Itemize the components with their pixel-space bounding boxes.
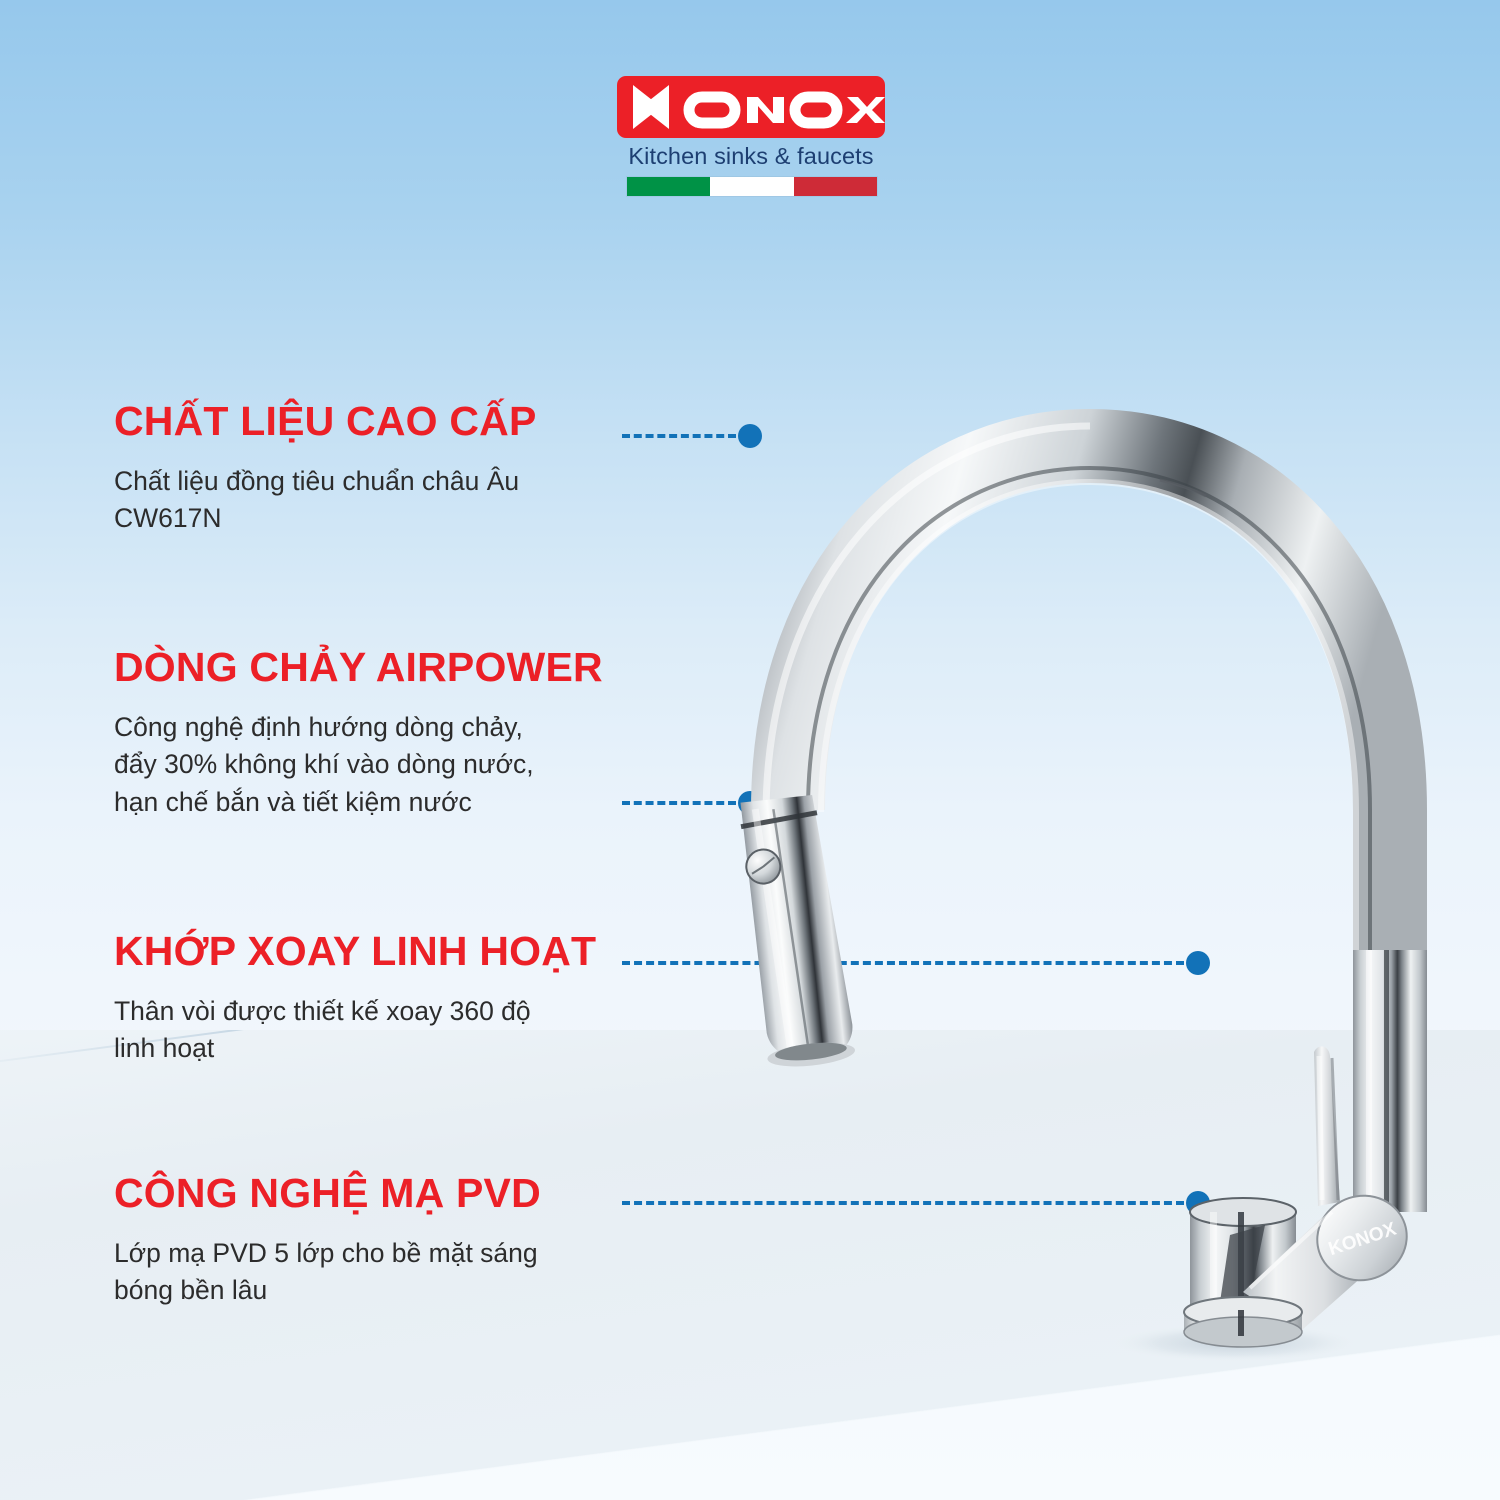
feature-line: linh hoạt (114, 1030, 644, 1068)
feature-line: bóng bền lâu (114, 1272, 644, 1310)
feature-line: Lớp mạ PVD 5 lớp cho bề mặt sáng (114, 1235, 644, 1273)
logo-badge (617, 76, 885, 138)
column-dark-line (1384, 950, 1389, 1212)
feature-line: CW617N (114, 500, 644, 538)
feature-title-1: CHẤT LIỆU CAO CẤP (114, 400, 644, 443)
handle-bar-highlight (1319, 1056, 1322, 1200)
brand-logo: Kitchen sinks & faucets (617, 76, 885, 197)
feature-body-1: Chất liệu đồng tiêu chuẩn châu Âu CW617N (114, 463, 644, 538)
feature-title-3: KHỚP XOAY LINH HOẠT (114, 930, 644, 973)
faucet-spray-head (740, 793, 856, 1070)
feature-line: hạn chế bắn và tiết kiệm nước (114, 784, 644, 822)
feature-title-2: DÒNG CHẢY AIRPOWER (114, 646, 644, 689)
column-highlight (1366, 950, 1372, 1212)
feature-body-4: Lớp mạ PVD 5 lớp cho bề mặt sáng bóng bề… (114, 1235, 644, 1310)
flag-stripe-white (710, 177, 793, 196)
infographic-canvas: Kitchen sinks & faucets CHẤT LIỆU CAO CẤ… (0, 0, 1500, 1500)
feature-line: Công nghệ định hướng dòng chảy, (114, 709, 644, 747)
faucet-base-flange (1184, 1297, 1302, 1347)
faucet-illustration: KONOX (690, 250, 1430, 1370)
faucet-column (1353, 950, 1427, 1212)
feature-block-2: DÒNG CHẢY AIRPOWER Công nghệ định hướng … (114, 646, 644, 822)
italian-flag-bar (626, 176, 878, 197)
flag-stripe-green (627, 177, 710, 196)
feature-title-4: CÔNG NGHỆ MẠ PVD (114, 1172, 644, 1215)
feature-block-3: KHỚP XOAY LINH HOẠT Thân vòi được thiết … (114, 930, 644, 1068)
feature-block-1: CHẤT LIỆU CAO CẤP Chất liệu đồng tiêu ch… (114, 400, 644, 538)
feature-line: Thân vòi được thiết kế xoay 360 độ (114, 993, 644, 1031)
product-image-faucet: KONOX (690, 250, 1430, 1370)
faucet-gooseneck-arc (788, 446, 1390, 990)
logo-wordmark-konox (617, 76, 885, 138)
flag-stripe-red (794, 177, 877, 196)
feature-block-4: CÔNG NGHỆ MẠ PVD Lớp mạ PVD 5 lớp cho bề… (114, 1172, 644, 1310)
base-dark-line (1238, 1310, 1244, 1336)
feature-line: đẩy 30% không khí vào dòng nước, (114, 746, 644, 784)
feature-line: Chất liệu đồng tiêu chuẩn châu Âu (114, 463, 644, 501)
logo-tagline: Kitchen sinks & faucets (617, 143, 885, 170)
feature-body-3: Thân vòi được thiết kế xoay 360 độ linh … (114, 993, 644, 1068)
feature-body-2: Công nghệ định hướng dòng chảy, đẩy 30% … (114, 709, 644, 822)
